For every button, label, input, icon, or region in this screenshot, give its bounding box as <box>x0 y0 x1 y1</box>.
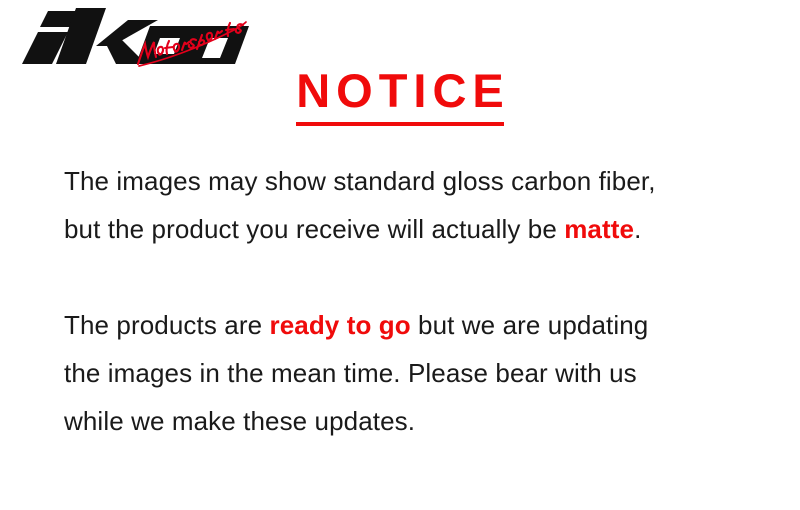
emphasis-ready-to-go: ready to go <box>269 310 410 340</box>
notice-text: . <box>634 214 641 244</box>
notice-text: but we are updating <box>411 310 649 340</box>
notice-line: the images in the mean time. Please bear… <box>64 349 764 397</box>
notice-text: The products are <box>64 310 269 340</box>
notice-line: The products are ready to go but we are … <box>64 301 764 349</box>
emphasis-matte: matte <box>564 214 634 244</box>
notice-text: The images may show standard gloss carbo… <box>64 166 656 196</box>
page-title: NOTICE <box>290 66 510 120</box>
notice-line: The images may show standard gloss carbo… <box>64 157 764 205</box>
notice-text: but the product you receive will actuall… <box>64 214 564 244</box>
notice-body: The images may show standard gloss carbo… <box>64 157 764 445</box>
ikon-motorsports-logo <box>0 2 250 68</box>
notice-line: while we make these updates. <box>64 397 764 445</box>
title-underline-rule <box>296 122 504 126</box>
notice-text: while we make these updates. <box>64 406 415 436</box>
notice-banner: NOTICE The images may show standard glos… <box>0 0 800 510</box>
logo-artwork <box>0 2 250 68</box>
notice-paragraph-2: The products are ready to go but we are … <box>64 301 764 445</box>
notice-line: but the product you receive will actuall… <box>64 205 764 253</box>
notice-text: the images in the mean time. Please bear… <box>64 358 637 388</box>
notice-paragraph-1: The images may show standard gloss carbo… <box>64 157 764 253</box>
notice-title-block: NOTICE <box>240 66 560 126</box>
